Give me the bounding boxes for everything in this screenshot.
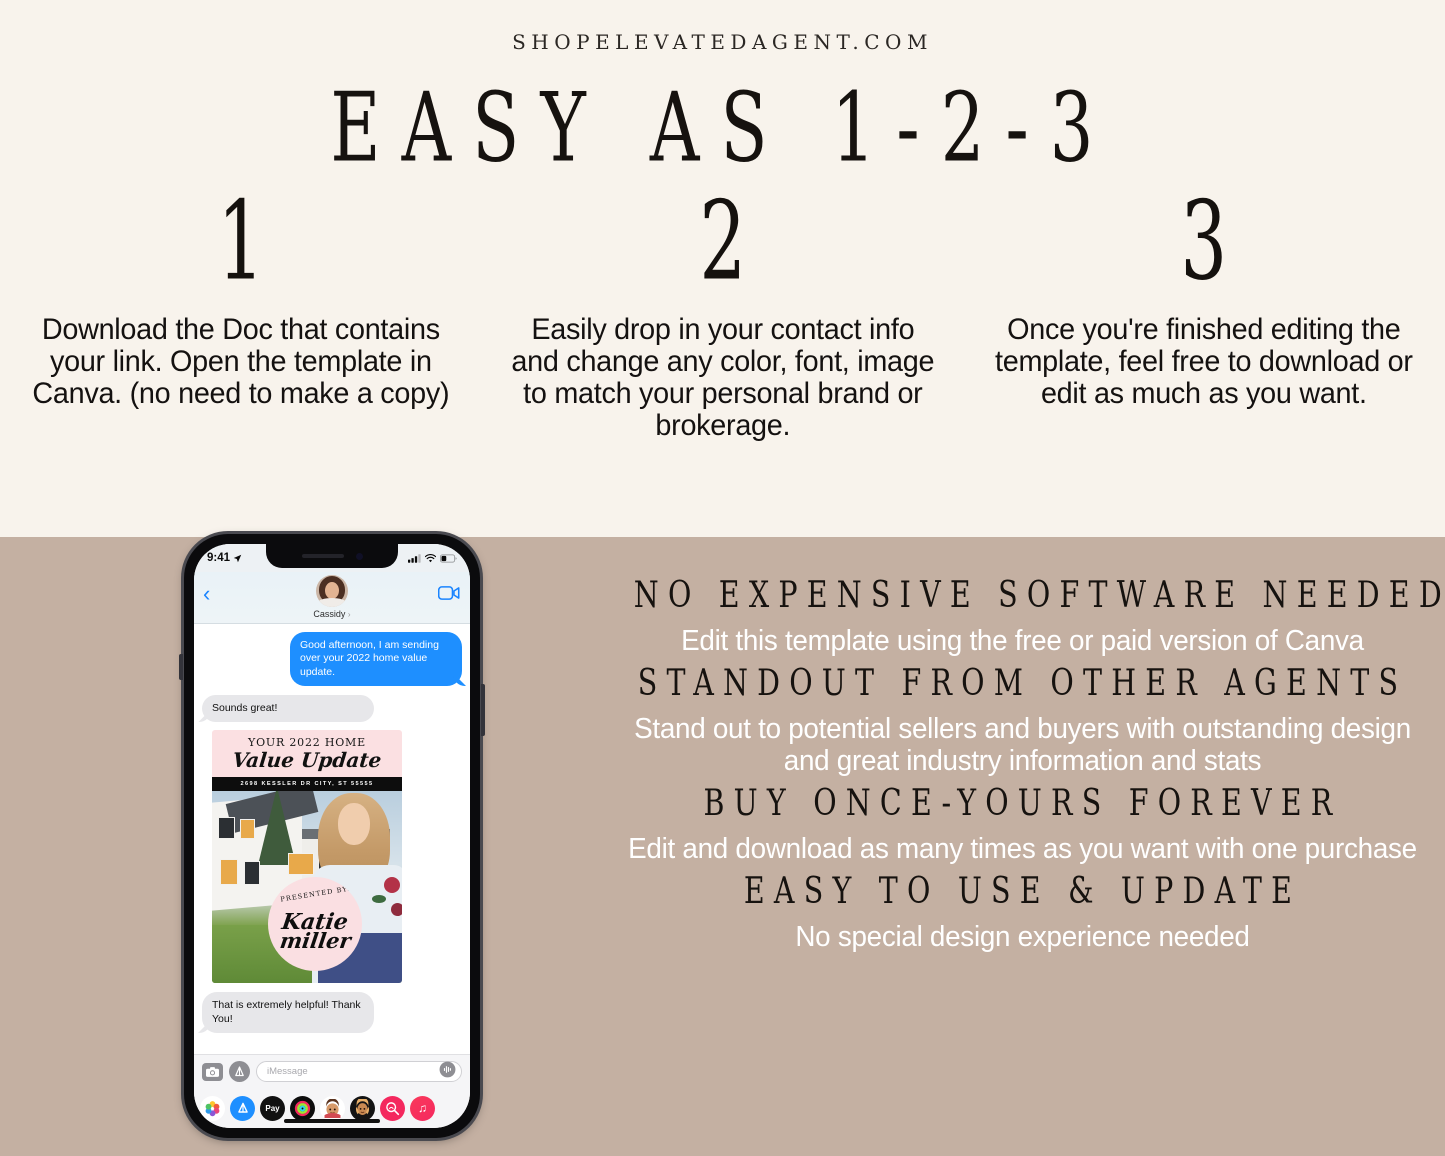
steps-row: 1 Download the Doc that contains your li… xyxy=(0,196,1445,442)
step-item: 1 Download the Doc that contains your li… xyxy=(0,196,482,442)
promo-page: SHOPELEVATEDAGENT.COM EASY AS 1-2-3 1 Do… xyxy=(0,0,1445,1156)
location-arrow-icon xyxy=(233,554,242,563)
benefit-body: Edit this template using the free or pai… xyxy=(617,626,1428,658)
avatar[interactable] xyxy=(316,575,348,607)
site-url: SHOPELEVATEDAGENT.COM xyxy=(0,30,1445,54)
step-description: Download the Doc that contains your link… xyxy=(27,314,455,410)
earpiece-speaker xyxy=(302,554,344,558)
flyer-attachment[interactable]: YOUR 2022 HOME Value Update 2698 KESSLER… xyxy=(212,730,402,983)
phone-screen: 9:41 xyxy=(194,544,470,1128)
music-search-app-icon[interactable] xyxy=(380,1096,405,1121)
step-description: Once you're finished editing the templat… xyxy=(990,314,1418,410)
flyer-photo: PRESENTED BY: Katie miller xyxy=(212,791,402,983)
contact-block[interactable]: Cassidy › xyxy=(194,575,470,619)
message-bubble-incoming[interactable]: That is extremely helpful! Thank You! xyxy=(202,992,374,1033)
benefit-heading: EASY TO USE & UPDATE xyxy=(634,869,1411,911)
step-description: Easily drop in your contact info and cha… xyxy=(509,314,937,442)
back-chevron-icon[interactable]: ‹ xyxy=(203,583,210,605)
message-input-bar: iMessage xyxy=(194,1054,470,1088)
conversation-header: ‹ Cassidy › xyxy=(194,572,470,624)
music-app-icon[interactable]: ♫ xyxy=(410,1096,435,1121)
message-thread[interactable]: Good afternoon, I am sending over your 2… xyxy=(194,624,470,1054)
contact-chevron-icon: › xyxy=(348,610,351,619)
avatar-face xyxy=(325,582,339,599)
wifi-icon xyxy=(425,554,436,563)
benefit-body: No special design experience needed xyxy=(617,922,1428,954)
step-number: 2 xyxy=(544,188,901,297)
message-bubble-outgoing[interactable]: Good afternoon, I am sending over your 2… xyxy=(290,632,462,686)
imessage-placeholder: iMessage xyxy=(267,1066,308,1077)
animoji-app-icon[interactable] xyxy=(350,1096,375,1121)
presented-by-badge: PRESENTED BY: Katie miller xyxy=(268,877,362,971)
top-section: SHOPELEVATEDAGENT.COM EASY AS 1-2-3 1 Do… xyxy=(0,0,1445,537)
benefit-item: STANDOUT FROM OTHER AGENTS Stand out to … xyxy=(600,665,1445,778)
benefit-body: Stand out to potential sellers and buyer… xyxy=(617,714,1428,778)
benefit-body: Edit and download as many times as you w… xyxy=(617,834,1428,866)
flyer-address: 2698 KESSLER DR CITY, ST 55555 xyxy=(212,777,402,791)
imessage-input[interactable]: iMessage xyxy=(256,1061,462,1082)
window-graphic xyxy=(218,817,235,839)
contact-name-text: Cassidy xyxy=(313,609,345,619)
phone-notch xyxy=(266,544,398,568)
window-graphic xyxy=(220,859,238,885)
window-graphic xyxy=(244,861,260,885)
battery-icon xyxy=(440,554,457,563)
home-indicator-bar[interactable] xyxy=(284,1119,380,1123)
step-number: 3 xyxy=(1026,188,1383,297)
badge-kicker: PRESENTED BY: xyxy=(279,885,350,904)
benefit-item: NO EXPENSIVE SOFTWARE NEEDED Edit this t… xyxy=(600,577,1445,658)
fitness-app-icon[interactable] xyxy=(290,1096,315,1121)
contact-name: Cassidy › xyxy=(194,609,470,619)
benefit-heading: NO EXPENSIVE SOFTWARE NEEDED xyxy=(634,574,1411,616)
avatar-shoulders xyxy=(318,598,346,607)
audio-waveform-icon[interactable] xyxy=(439,1061,456,1083)
facetime-video-icon[interactable] xyxy=(438,586,460,605)
photos-app-icon[interactable] xyxy=(200,1096,225,1121)
flyer-script-title: Value Update xyxy=(215,750,399,770)
benefit-item: BUY ONCE-YOURS FOREVER Edit and download… xyxy=(600,785,1445,866)
status-time: 9:41 xyxy=(207,552,230,564)
benefit-heading: BUY ONCE-YOURS FOREVER xyxy=(634,781,1411,823)
app-store-app-icon[interactable] xyxy=(230,1096,255,1121)
window-graphic xyxy=(240,819,255,839)
status-bar-right xyxy=(408,554,457,563)
step-number: 1 xyxy=(63,188,420,297)
apple-pay-app-icon[interactable]: Pay xyxy=(260,1096,285,1121)
message-bubble-incoming[interactable]: Sounds great! xyxy=(202,695,374,722)
agent-face xyxy=(338,803,370,845)
step-item: 2 Easily drop in your contact info and c… xyxy=(482,196,964,442)
flyer-header: YOUR 2022 HOME Value Update xyxy=(212,730,402,777)
status-bar-left: 9:41 xyxy=(207,552,242,564)
benefits-list: NO EXPENSIVE SOFTWARE NEEDED Edit this t… xyxy=(600,577,1445,960)
app-store-icon[interactable] xyxy=(229,1061,250,1082)
embroidered-flower xyxy=(391,903,402,916)
benefit-item: EASY TO USE & UPDATE No special design e… xyxy=(600,873,1445,954)
camera-icon[interactable] xyxy=(202,1063,223,1081)
badge-name-line2: miller xyxy=(278,932,351,951)
step-item: 3 Once you're finished editing the templ… xyxy=(963,196,1445,442)
iphone-mockup: 9:41 xyxy=(184,534,480,1138)
memoji-app-icon[interactable] xyxy=(320,1096,345,1121)
page-title: EASY AS 1-2-3 xyxy=(87,74,1359,184)
benefit-heading: STANDOUT FROM OTHER AGENTS xyxy=(634,662,1411,704)
cellular-signal-icon xyxy=(408,554,421,563)
front-camera-icon xyxy=(356,553,363,560)
